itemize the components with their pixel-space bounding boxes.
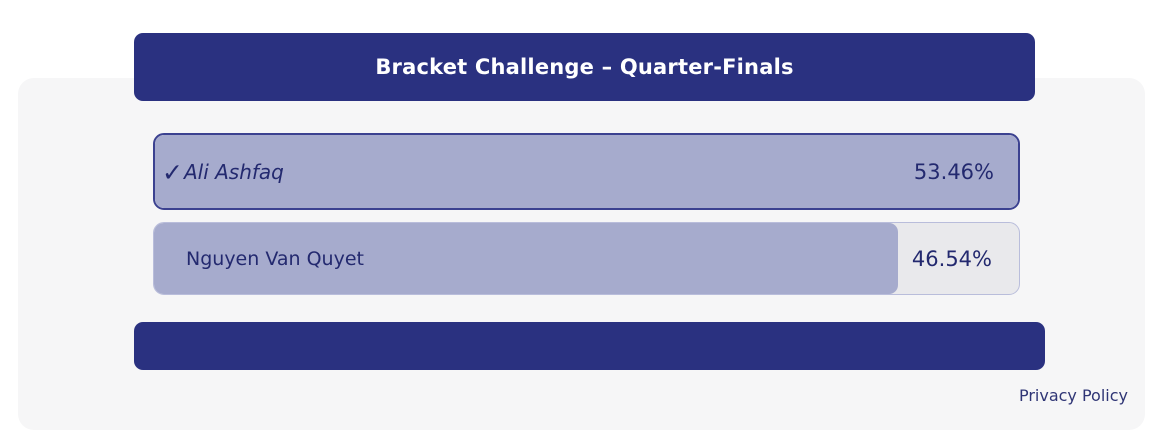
poll-option-row-2[interactable]: Nguyen Van Quyet 46.54%	[153, 222, 1020, 295]
option-label-2: Nguyen Van Quyet	[186, 248, 364, 270]
option-name-2: Nguyen Van Quyet	[186, 248, 364, 270]
poll-header: Bracket Challenge – Quarter-Finals	[134, 33, 1035, 101]
option-label-1: ✓ Ali Ashfaq	[162, 159, 284, 184]
footer-bar[interactable]	[134, 322, 1045, 370]
check-icon: ✓	[162, 160, 183, 185]
page-title: Bracket Challenge – Quarter-Finals	[375, 55, 793, 79]
privacy-policy-link[interactable]: Privacy Policy	[1019, 386, 1128, 405]
poll-widget: Bracket Challenge – Quarter-Finals ✓ Ali…	[0, 0, 1173, 447]
option-name-1: Ali Ashfaq	[184, 160, 284, 184]
poll-option-row-1[interactable]: ✓ Ali Ashfaq 53.46%	[153, 133, 1020, 210]
option-percent-1: 53.46%	[914, 160, 994, 184]
option-percent-2: 46.54%	[912, 247, 992, 271]
poll-options-list: ✓ Ali Ashfaq 53.46% Nguyen Van Quyet 46.…	[153, 133, 1020, 295]
